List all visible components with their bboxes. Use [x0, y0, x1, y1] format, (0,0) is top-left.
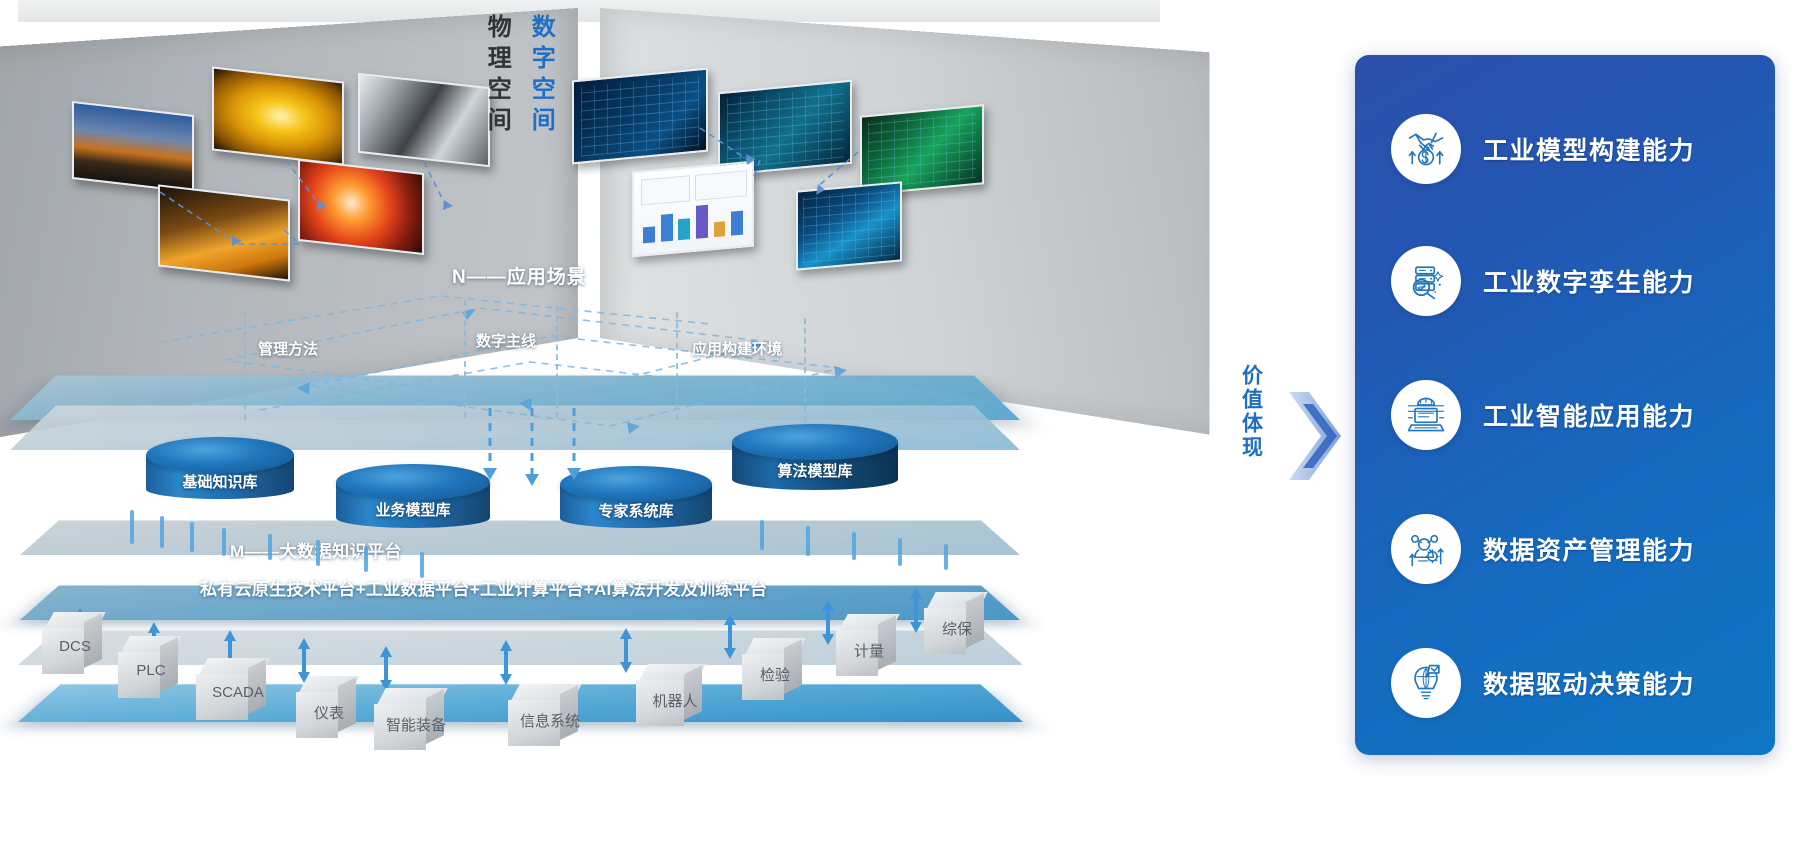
label-digital-thread: 数字主线 [476, 330, 536, 351]
value-realization-arrow: 价值体现 [1235, 360, 1355, 510]
device-cube: 综保 [924, 592, 990, 654]
device-cube: 计量 [836, 614, 902, 676]
repository-cylinder: 专家系统库 [560, 466, 712, 540]
capability-label: 数据驱动决策能力 [1483, 665, 1695, 701]
device-label: SCADA [196, 684, 280, 701]
label-platform-stack: 私有云原生技术平台+工业数据平台+工业计算平台+AI算法开发及训练平台 [200, 575, 767, 600]
capability-label: 工业智能应用能力 [1483, 397, 1695, 433]
repository-label: 专家系统库 [560, 500, 712, 521]
device-cube: PLC [118, 636, 184, 698]
capability-row[interactable]: 工业模型构建能力 [1391, 101, 1747, 197]
capability-panel: 工业模型构建能力 工业数字孪生能力 [1355, 55, 1775, 755]
capability-label: 数据资产管理能力 [1483, 531, 1695, 567]
repository-cylinder: 业务模型库 [336, 464, 490, 540]
capability-label: 工业数字孪生能力 [1483, 263, 1695, 299]
device-cube: 仪表 [296, 676, 362, 738]
repository-label: 业务模型库 [336, 499, 490, 520]
isometric-architecture-diagram: 物理空间 数字空间 N——应用场景 [0, 0, 1180, 860]
repository-cylinder: 算法模型库 [732, 424, 898, 502]
device-cube: 检验 [742, 638, 808, 700]
repository-label: 算法模型库 [732, 460, 898, 481]
capability-row[interactable]: 数据资产管理能力 [1391, 501, 1747, 597]
device-label: 仪表 [296, 702, 362, 723]
device-cube: 机器人 [636, 664, 714, 726]
wall-top-cap [18, 0, 1160, 22]
digital-screen-report-dashboard [632, 161, 754, 258]
laptop-ai-icon [1391, 380, 1461, 450]
capability-row[interactable]: 工业智能应用能力 [1391, 367, 1747, 463]
physical-screen-refinery [72, 101, 194, 193]
data-assets-icon [1391, 514, 1461, 584]
handshake-money-icon [1391, 114, 1461, 184]
capability-label: 工业模型构建能力 [1483, 131, 1695, 167]
physical-screen-plant [158, 184, 290, 281]
device-cube: SCADA [196, 658, 280, 720]
device-label: 检验 [742, 664, 808, 685]
capability-row[interactable]: 数据驱动决策能力 [1391, 635, 1747, 731]
device-label: 智能装备 [374, 714, 458, 735]
lightbulb-globe-icon [1391, 648, 1461, 718]
chevron-right-icon [1287, 386, 1345, 486]
repository-label: 基础知识库 [146, 471, 294, 492]
architecture-diagram-page: 物理空间 数字空间 N——应用场景 [0, 0, 1800, 860]
digital-screen-monitor-1 [572, 68, 708, 165]
digital-screen-monitor-3 [860, 104, 984, 196]
digital-space-caption: 数字空间 [528, 14, 553, 138]
device-label: 计量 [836, 640, 902, 661]
digital-screen-control-room [796, 181, 902, 270]
device-cube: 信息系统 [508, 684, 592, 746]
device-label: 信息系统 [508, 710, 592, 731]
label-n-application-scenarios: N——应用场景 [452, 262, 587, 289]
physical-screen-tunnel [212, 66, 344, 165]
physical-screen-furnace [298, 159, 424, 255]
server-magnifier-icon [1391, 246, 1461, 316]
device-label: 机器人 [636, 690, 714, 711]
device-cube: 智能装备 [374, 688, 458, 750]
repository-cylinder: 基础知识库 [146, 437, 294, 511]
device-label: PLC [118, 662, 184, 679]
physical-screen-piping [358, 73, 490, 167]
device-label: DCS [42, 638, 108, 655]
label-app-build-env: 应用构建环境 [692, 338, 782, 359]
value-realization-label: 价值体现 [1239, 364, 1263, 460]
device-cube: DCS [42, 612, 108, 674]
capability-row[interactable]: 工业数字孪生能力 [1391, 233, 1747, 329]
physical-space-caption: 物理空间 [484, 14, 509, 138]
device-label: 综保 [924, 618, 990, 639]
label-management-method: 管理方法 [258, 338, 318, 359]
